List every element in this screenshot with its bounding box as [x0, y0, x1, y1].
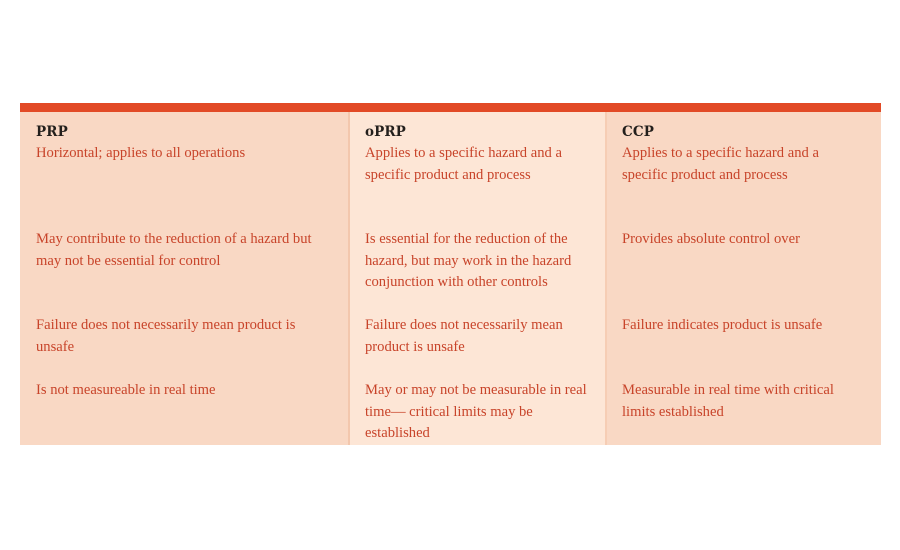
column-header-oprp: oPRP — [365, 123, 592, 141]
table-column-ccp: CCP Applies to a specific hazard and a s… — [606, 112, 881, 445]
table-column-oprp: oPRP Applies to a specific hazard and a … — [349, 112, 606, 445]
table-cell-prp-4: Is not measureable in real time — [36, 380, 335, 445]
page-canvas: PRP Horizontal; applies to all operation… — [0, 0, 900, 550]
table-cell-ccp-2: Provides absolute control over — [622, 229, 867, 315]
column-header-prp: PRP — [36, 123, 335, 141]
table-top-accent-bar — [20, 103, 881, 112]
table-cell-oprp-1: Applies to a specific hazard and a speci… — [365, 143, 592, 229]
table-cell-oprp-3: Failure does not necessarily mean produc… — [365, 315, 592, 380]
table-cell-oprp-2: Is essential for the reduction of the ha… — [365, 229, 592, 315]
table-column-prp: PRP Horizontal; applies to all operation… — [20, 112, 349, 445]
table-cell-ccp-3: Failure indicates product is unsafe — [622, 315, 867, 380]
table-cell-ccp-4: Measurable in real time with critical li… — [622, 380, 867, 445]
table-cell-prp-1: Horizontal; applies to all operations — [36, 143, 335, 229]
table-cell-ccp-1: Applies to a specific hazard and a speci… — [622, 143, 867, 229]
table-cell-oprp-4: May or may not be measurable in real tim… — [365, 380, 592, 445]
prp-oprp-ccp-comparison-table: PRP Horizontal; applies to all operation… — [20, 103, 881, 437]
table-cell-prp-2: May contribute to the reduction of a haz… — [36, 229, 335, 315]
column-header-ccp: CCP — [622, 123, 867, 141]
table-columns: PRP Horizontal; applies to all operation… — [20, 112, 881, 445]
table-cell-prp-3: Failure does not necessarily mean produc… — [36, 315, 335, 380]
